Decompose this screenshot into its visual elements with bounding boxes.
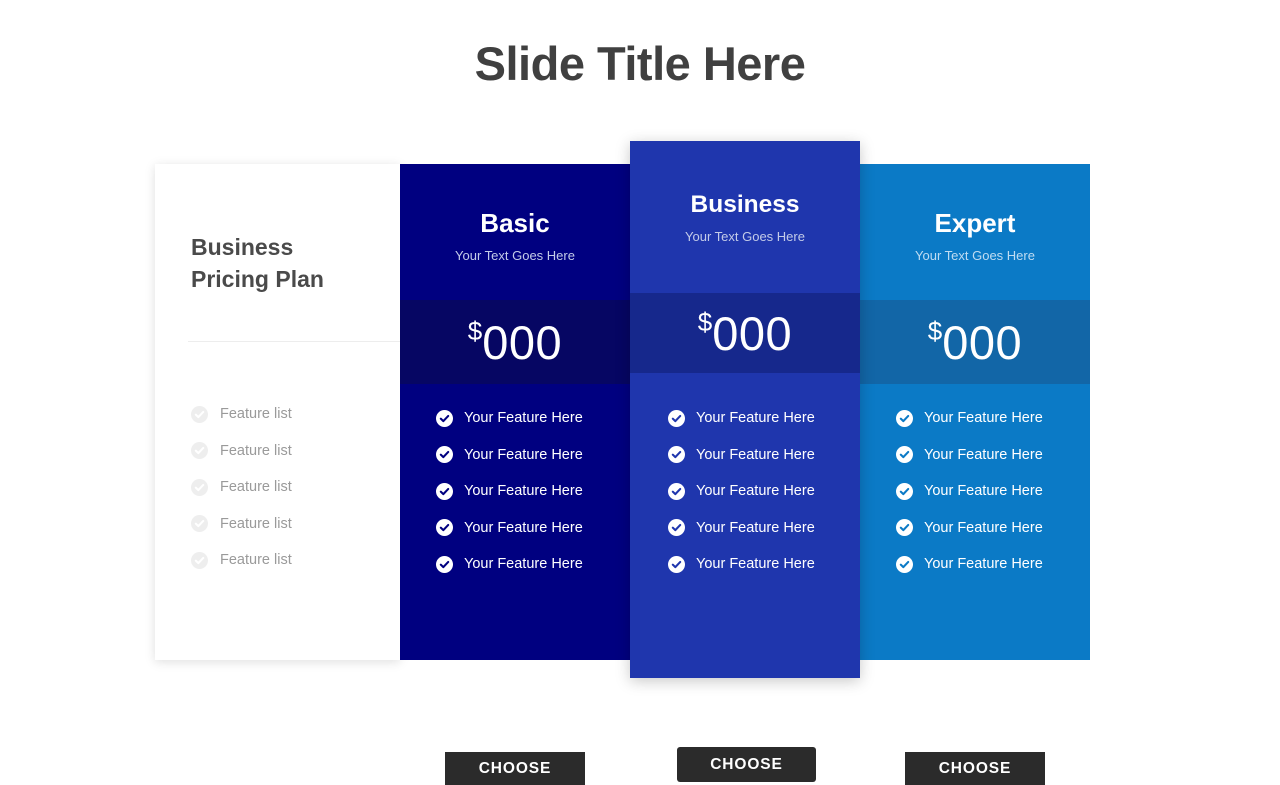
list-item: Your Feature Here	[896, 473, 1090, 510]
plan-name: Business	[630, 193, 860, 218]
pricing-card-basic[interactable]: Basic Your Text Goes Here $000 Your Feat…	[400, 164, 630, 660]
check-circle-icon	[668, 483, 685, 500]
check-circle-icon	[436, 483, 453, 500]
list-item: Your Feature Here	[896, 510, 1090, 547]
list-item-label: Your Feature Here	[924, 447, 1043, 463]
list-item: Your Feature Here	[668, 400, 860, 437]
list-item-label: Your Feature Here	[464, 520, 583, 536]
list-item: Your Feature Here	[896, 400, 1090, 437]
list-item: Your Feature Here	[668, 510, 860, 547]
list-item: Your Feature Here	[436, 546, 630, 583]
plan-header: Basic Your Text Goes Here	[400, 164, 630, 263]
list-item-label: Your Feature Here	[924, 483, 1043, 499]
check-circle-icon	[668, 410, 685, 427]
list-item-label: Your Feature Here	[464, 410, 583, 426]
plan-name: Basic	[400, 210, 630, 236]
list-item-label: Your Feature Here	[464, 483, 583, 499]
list-item: Feature list	[191, 396, 401, 433]
list-item: Your Feature Here	[896, 437, 1090, 474]
list-item: Your Feature Here	[668, 546, 860, 583]
plan-name: Expert	[860, 210, 1090, 236]
price-amount: 000	[482, 315, 562, 370]
check-circle-icon	[436, 519, 453, 536]
plan-header: Business Your Text Goes Here	[630, 141, 860, 244]
list-item: Your Feature Here	[896, 546, 1090, 583]
check-circle-icon	[191, 406, 208, 423]
plan-price: $000	[860, 300, 1090, 384]
list-item-label: Your Feature Here	[696, 447, 815, 463]
check-circle-icon	[668, 519, 685, 536]
check-circle-icon	[668, 556, 685, 573]
list-item-label: Feature list	[220, 479, 292, 495]
choose-button-business[interactable]: CHOOSE	[677, 747, 816, 782]
list-item: Feature list	[191, 506, 401, 543]
check-circle-icon	[436, 446, 453, 463]
list-item: Your Feature Here	[436, 400, 630, 437]
check-circle-icon	[896, 446, 913, 463]
plan-feature-list: Your Feature Here Your Feature Here Your…	[668, 400, 860, 583]
check-circle-icon	[191, 442, 208, 459]
list-item: Your Feature Here	[668, 473, 860, 510]
plan-subtitle: Your Text Goes Here	[630, 229, 860, 244]
pricing-card-business[interactable]: Business Your Text Goes Here $000 Your F…	[630, 141, 860, 678]
plan-price: $000	[630, 293, 860, 373]
plan-feature-list: Your Feature Here Your Feature Here Your…	[436, 400, 630, 583]
check-circle-icon	[668, 446, 685, 463]
list-item-label: Your Feature Here	[696, 483, 815, 499]
info-card: Business Pricing Plan Feature list Featu…	[155, 164, 400, 660]
check-circle-icon	[191, 515, 208, 532]
list-item-label: Your Feature Here	[696, 410, 815, 426]
list-item-label: Your Feature Here	[696, 556, 815, 572]
price-currency: $	[928, 316, 942, 347]
check-circle-icon	[896, 410, 913, 427]
info-feature-list: Feature list Feature list Feature list	[191, 396, 401, 579]
plan-price: $000	[400, 300, 630, 384]
divider	[188, 341, 400, 342]
check-circle-icon	[436, 410, 453, 427]
list-item-label: Your Feature Here	[924, 410, 1043, 426]
choose-button-expert[interactable]: CHOOSE	[905, 752, 1045, 785]
price-amount: 000	[942, 315, 1022, 370]
list-item: Your Feature Here	[668, 437, 860, 474]
list-item-label: Your Feature Here	[924, 556, 1043, 572]
list-item: Your Feature Here	[436, 510, 630, 547]
pricing-card-expert[interactable]: Expert Your Text Goes Here $000 Your Fea…	[860, 164, 1090, 660]
check-circle-icon	[191, 479, 208, 496]
list-item: Feature list	[191, 433, 401, 470]
check-circle-icon	[896, 556, 913, 573]
price-currency: $	[698, 307, 712, 338]
list-item-label: Your Feature Here	[464, 447, 583, 463]
choose-button-basic[interactable]: CHOOSE	[445, 752, 585, 785]
list-item-label: Feature list	[220, 552, 292, 568]
page-title: Slide Title Here	[0, 36, 1280, 91]
plan-subtitle: Your Text Goes Here	[400, 248, 630, 263]
check-circle-icon	[896, 483, 913, 500]
check-circle-icon	[191, 552, 208, 569]
check-circle-icon	[896, 519, 913, 536]
list-item-label: Feature list	[220, 406, 292, 422]
list-item-label: Your Feature Here	[464, 556, 583, 572]
list-item: Feature list	[191, 542, 401, 579]
list-item-label: Your Feature Here	[924, 520, 1043, 536]
price-currency: $	[468, 316, 482, 347]
list-item-label: Feature list	[220, 516, 292, 532]
plan-header: Expert Your Text Goes Here	[860, 164, 1090, 263]
info-card-title: Business Pricing Plan	[191, 232, 381, 295]
list-item-label: Feature list	[220, 443, 292, 459]
list-item: Your Feature Here	[436, 437, 630, 474]
list-item: Your Feature Here	[436, 473, 630, 510]
plan-subtitle: Your Text Goes Here	[860, 248, 1090, 263]
price-amount: 000	[712, 306, 792, 361]
list-item-label: Your Feature Here	[696, 520, 815, 536]
plan-feature-list: Your Feature Here Your Feature Here Your…	[896, 400, 1090, 583]
check-circle-icon	[436, 556, 453, 573]
list-item: Feature list	[191, 469, 401, 506]
